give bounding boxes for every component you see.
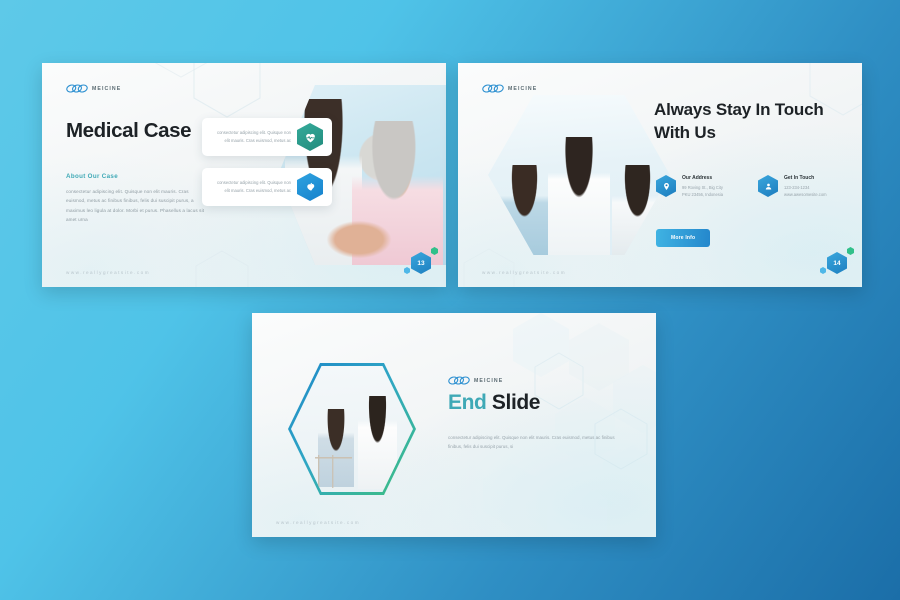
page-title-accent: End [448,391,486,414]
slide-end[interactable]: MEICINE End Slide consectetur adipiscing… [252,313,656,537]
badge-accent-blue-icon [820,267,826,274]
page-title: Medical Case [66,119,191,143]
brand-logo-text: MEICINE [92,86,121,92]
footer-url[interactable]: www.reallygreatsite.com [276,520,360,525]
slide-medical-case[interactable]: MEICINE Medical Case About Our Case cons… [42,63,446,287]
contact-line: 123-234-1234 [784,184,827,191]
feature-card-text: consectetur adipiscing elit. Quisque non… [202,179,297,195]
end-slide-photo [288,363,416,495]
contact-title: Get In Touch [784,175,827,181]
slide-contact[interactable]: MEICINE Always Stay In Touch With Us Our… [458,63,862,287]
three-rings-logo-icon [66,83,88,94]
feature-card[interactable]: consectetur adipiscing elit. Quisque non… [202,118,332,156]
badge-accent-green-icon [431,247,438,255]
badge-accent-green-icon [847,247,854,255]
brand-logo[interactable]: MEICINE [448,375,503,386]
hexagon-pattern-decor-icon [481,313,656,537]
page-title-rest: Slide [492,391,540,414]
body-paragraph: consectetur adipiscing elit. Quisque non… [66,187,206,225]
footer-url[interactable]: www.reallygreatsite.com [66,270,150,275]
page-number: 13 [411,252,431,274]
brand-logo[interactable]: MEICINE [66,83,121,94]
page-title: End Slide [448,391,540,415]
contact-line: PKU 23456, Indonesia [682,191,723,198]
heart-organ-icon [297,173,323,201]
page-number-badge: 13 [404,247,438,281]
brand-logo[interactable]: MEICINE [482,83,537,94]
contact-line: 99 Roving St., Big City [682,184,723,191]
page-number-badge: 14 [820,247,854,281]
page-number: 14 [827,252,847,274]
location-pin-icon [656,175,676,197]
contact-line[interactable]: www.awesomesite.com [784,191,827,198]
footer-url[interactable]: www.reallygreatsite.com [482,270,566,275]
section-subtitle: About Our Case [66,173,118,180]
more-info-button[interactable]: More Info [656,229,710,247]
three-rings-logo-icon [482,83,504,94]
brand-logo-text: MEICINE [508,86,537,92]
contact-title: Our Address [682,175,723,181]
feature-card[interactable]: consectetur adipiscing elit. Quisque non… [202,168,332,206]
contact-block-touch: Get In Touch 123-234-1234 www.awesomesit… [758,175,827,198]
heart-pulse-icon [297,123,323,151]
contact-block-address: Our Address 99 Roving St., Big City PKU … [656,175,723,198]
brand-logo-text: MEICINE [474,378,503,384]
page-title: Always Stay In Touch With Us [654,99,854,145]
badge-accent-blue-icon [404,267,410,274]
feature-card-text: consectetur adipiscing elit. Quisque non… [202,129,297,145]
user-contact-icon [758,175,778,197]
body-paragraph: consectetur adipiscing elit. Quisque non… [448,433,618,452]
three-rings-logo-icon [448,375,470,386]
